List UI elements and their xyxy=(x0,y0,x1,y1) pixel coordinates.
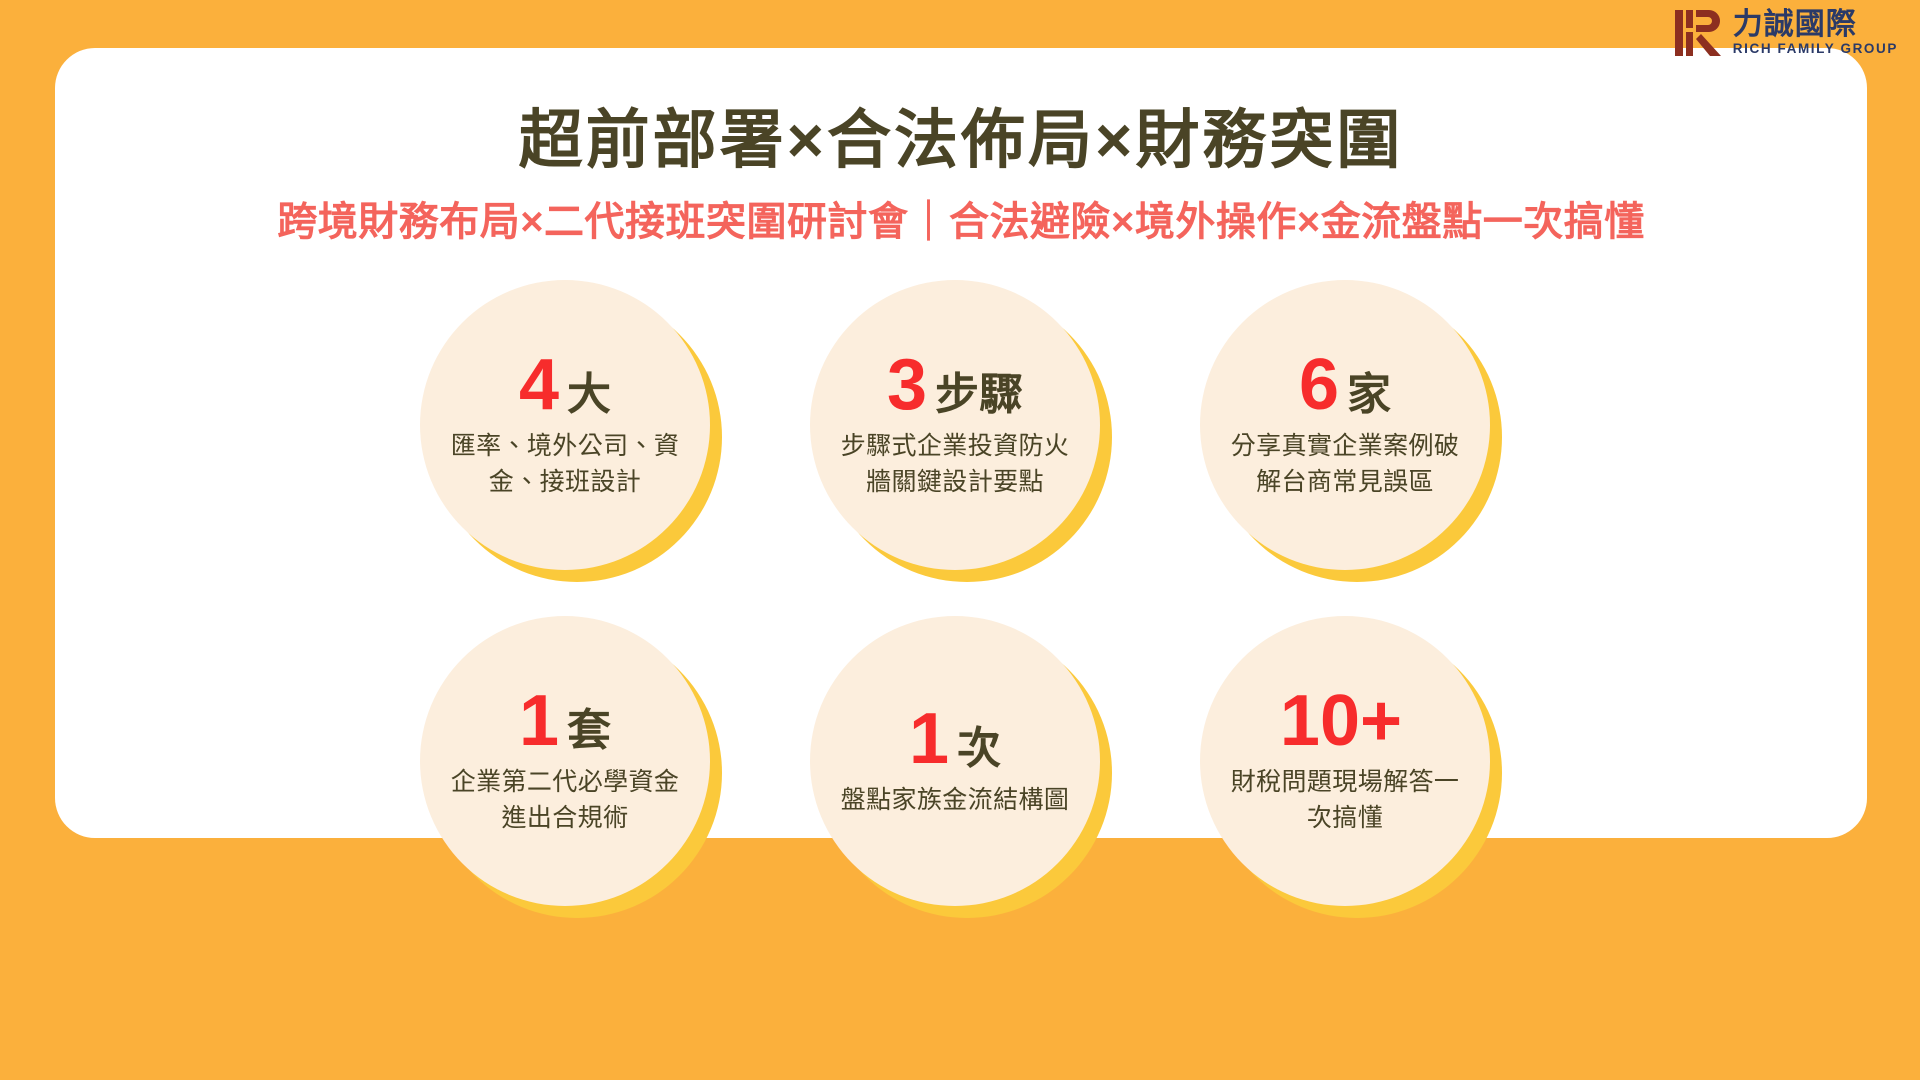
stat-description: 財稅問題現場解答一次搞懂 xyxy=(1220,765,1470,836)
stat-card: 4 大 匯率、境外公司、資金、接班設計 xyxy=(406,272,736,572)
stat-unit: 家 xyxy=(1347,373,1391,417)
logo-text: 力誠國際 RICH FAMILY GROUP xyxy=(1733,9,1898,57)
stat-unit: 步驟 xyxy=(935,373,1023,417)
stat-number: 6 xyxy=(1299,349,1339,421)
stat-number: 4 xyxy=(519,349,559,421)
stat-unit: 次 xyxy=(957,727,1001,771)
stat-unit: 大 xyxy=(567,373,611,417)
stat-card: 3 步驟 步驟式企業投資防火牆關鍵設計要點 xyxy=(796,272,1126,572)
stat-card: 10+ 財稅問題現場解答一次搞懂 xyxy=(1186,608,1516,908)
stat-description: 步驟式企業投資防火牆關鍵設計要點 xyxy=(830,429,1080,500)
stat-card: 1 套 企業第二代必學資金進出合規術 xyxy=(406,608,736,908)
stat-number: 3 xyxy=(887,349,927,421)
page-title: 超前部署×合法佈局×財務突圍 xyxy=(55,104,1867,178)
stat-disc: 3 步驟 步驟式企業投資防火牆關鍵設計要點 xyxy=(810,280,1100,570)
stat-number: 10+ xyxy=(1280,685,1402,757)
stat-description: 匯率、境外公司、資金、接班設計 xyxy=(440,429,690,500)
stat-card: 6 家 分享真實企業案例破解台商常見誤區 xyxy=(1186,272,1516,572)
stats-grid: 4 大 匯率、境外公司、資金、接班設計 3 步驟 步驟式企業投資防火牆關鍵設計要… xyxy=(55,272,1867,908)
stat-headline: 10+ xyxy=(1280,685,1410,757)
content-panel: 超前部署×合法佈局×財務突圍 跨境財務布局×二代接班突圍研討會｜合法避險×境外操… xyxy=(55,48,1867,838)
page-subtitle: 跨境財務布局×二代接班突圍研討會｜合法避險×境外操作×金流盤點一次搞懂 xyxy=(55,198,1867,246)
stat-number: 1 xyxy=(519,685,559,757)
stat-disc: 1 次 盤點家族金流結構圖 xyxy=(810,616,1100,906)
stat-disc: 10+ 財稅問題現場解答一次搞懂 xyxy=(1200,616,1490,906)
stat-description: 企業第二代必學資金進出合規術 xyxy=(440,765,690,836)
stat-number: 1 xyxy=(909,703,949,775)
stat-headline: 1 次 xyxy=(909,703,1001,775)
stat-headline: 1 套 xyxy=(519,685,611,757)
stat-disc: 1 套 企業第二代必學資金進出合規術 xyxy=(420,616,710,906)
stat-headline: 6 家 xyxy=(1299,349,1391,421)
stat-description: 盤點家族金流結構圖 xyxy=(841,783,1070,819)
stat-unit: 套 xyxy=(567,709,611,753)
logo-chinese-name: 力誠國際 xyxy=(1733,9,1857,41)
rich-family-r-monogram-icon xyxy=(1675,8,1721,58)
stat-disc: 6 家 分享真實企業案例破解台商常見誤區 xyxy=(1200,280,1490,570)
logo-english-name: RICH FAMILY GROUP xyxy=(1733,42,1898,57)
stat-description: 分享真實企業案例破解台商常見誤區 xyxy=(1220,429,1470,500)
stat-headline: 4 大 xyxy=(519,349,611,421)
stat-card: 1 次 盤點家族金流結構圖 xyxy=(796,608,1126,908)
brand-logo: 力誠國際 RICH FAMILY GROUP xyxy=(1675,8,1898,58)
stat-disc: 4 大 匯率、境外公司、資金、接班設計 xyxy=(420,280,710,570)
stat-headline: 3 步驟 xyxy=(887,349,1023,421)
